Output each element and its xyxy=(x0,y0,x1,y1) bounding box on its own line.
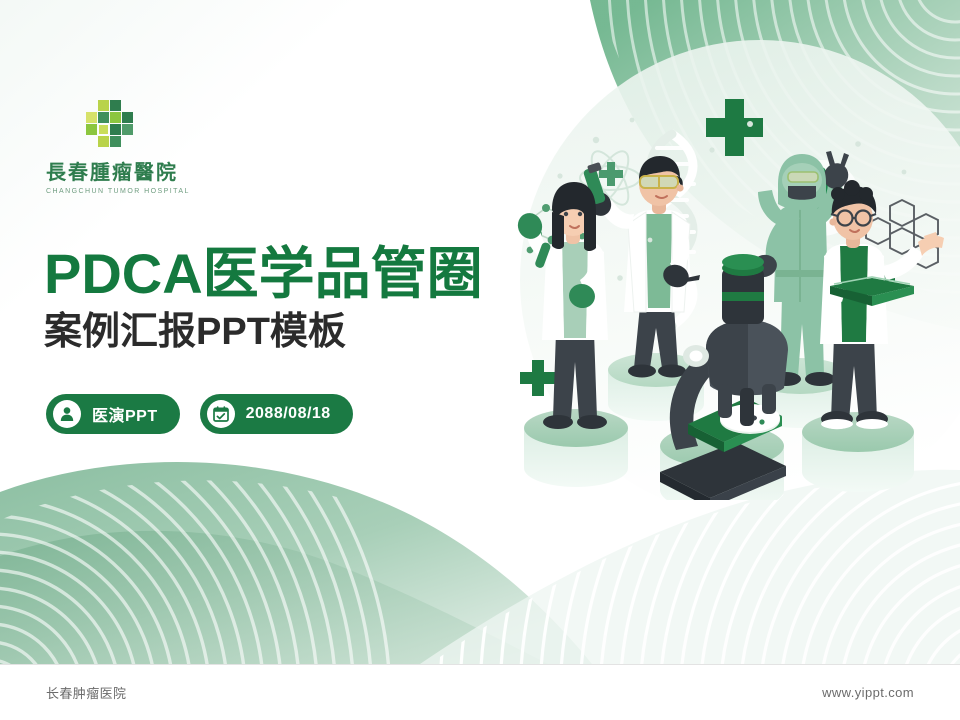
title-block: PDCA医学品管圈 案例汇报PPT模板 xyxy=(44,244,483,354)
date-label: 2088/08/18 xyxy=(246,405,331,423)
date-badge[interactable]: 2088/08/18 xyxy=(200,394,353,434)
meta-row: 医演PPT 2088/08/18 xyxy=(46,394,353,434)
male-scientist-with-book xyxy=(820,180,944,429)
author-label: 医演PPT xyxy=(92,402,158,426)
logo-name-cn: 長春腫瘤醫院 xyxy=(46,156,236,185)
medical-laboratory-team-illustration xyxy=(500,80,960,500)
cross-icon xyxy=(520,360,556,396)
cross-mosaic-icon xyxy=(74,98,138,152)
footer-hospital-name: 长春肿瘤医院 xyxy=(46,683,126,702)
author-badge[interactable]: 医演PPT xyxy=(46,394,180,434)
presentation-slide: 長春腫瘤醫院 CHANGCHUN TUMOR HOSPITAL PDCA医学品管… xyxy=(0,0,960,720)
cylinder-platform xyxy=(524,409,628,487)
cross-icon xyxy=(706,99,763,156)
person-icon xyxy=(53,400,81,428)
footer-website: www.yippt.com xyxy=(822,685,914,700)
page-title: PDCA医学品管圈 xyxy=(44,244,483,304)
page-subtitle: 案例汇报PPT模板 xyxy=(44,312,483,354)
hospital-logo: 長春腫瘤醫院 CHANGCHUN TUMOR HOSPITAL xyxy=(46,98,236,195)
female-scientist-with-test-tube xyxy=(514,182,608,429)
logo-name-en: CHANGCHUN TUMOR HOSPITAL xyxy=(46,188,236,195)
footer: 长春肿瘤医院 www.yippt.com xyxy=(0,664,960,720)
calendar-icon xyxy=(207,400,235,428)
